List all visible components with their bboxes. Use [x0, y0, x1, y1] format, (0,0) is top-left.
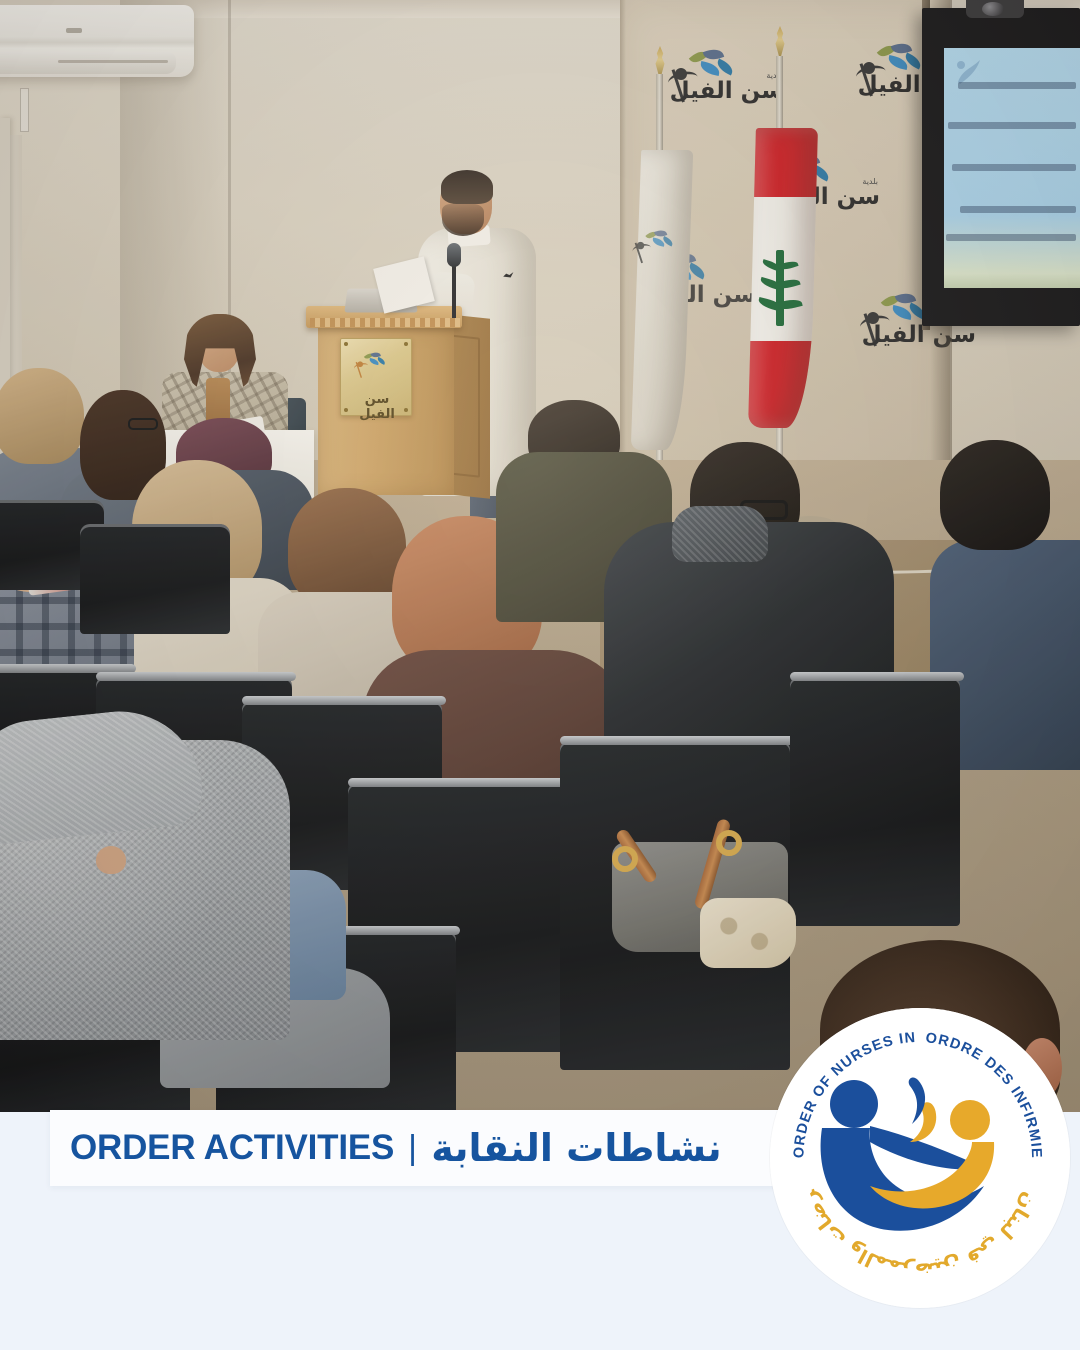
foreground-person-ear [96, 846, 126, 874]
conference-chair [80, 524, 230, 634]
door-latch [20, 88, 29, 132]
backdrop-left-edge [620, 0, 626, 500]
secondary-flag-emblem-icon [640, 222, 686, 342]
projection-screen [944, 48, 1080, 288]
event-photograph: بلدية سن الفيل بلدية سن الفيل بلدية سن ا… [0, 0, 1080, 1112]
microphone-icon [447, 243, 461, 267]
logo-blue-head [830, 1080, 878, 1128]
plaque-label: سن الفيل [346, 392, 408, 422]
logo-gold-head [950, 1100, 990, 1140]
audience-hair [288, 488, 406, 608]
cedar-emblem-icon [760, 250, 800, 328]
microphone-stand [452, 258, 456, 318]
speaker-hair [441, 170, 493, 204]
speaker-beard [442, 204, 484, 236]
plaque-emblem-icon [352, 350, 402, 392]
screenshot-root: بلدية سن الفيل بلدية سن الفيل بلدية سن ا… [0, 0, 1080, 1350]
municipality-label: سن الفيل [670, 78, 784, 104]
banner-separator: | [408, 1129, 417, 1168]
podium-moulding [310, 318, 460, 327]
order-of-nurses-logo: ORDER OF NURSES IN LEBANON ORDRE DES INF… [770, 1008, 1070, 1308]
projector-lens-icon [982, 2, 1004, 16]
scarf-in-bag [700, 898, 796, 968]
handbag-ring-icon [612, 846, 638, 872]
banner-english-label: ORDER ACTIVITIES [70, 1128, 394, 1168]
handbag-ring-icon [716, 830, 742, 856]
audience-hair [940, 440, 1050, 550]
air-conditioner-brand-mark [66, 28, 82, 33]
eyeglasses-icon [128, 418, 158, 430]
air-conditioner-vent [0, 52, 176, 74]
audience-hair [0, 368, 84, 464]
banner-text-group: ORDER ACTIVITIES | نشاطات النقابة [70, 1126, 722, 1170]
conference-chair [790, 676, 960, 926]
banner-arabic-label: نشاطات النقابة [431, 1126, 721, 1170]
scarf [672, 506, 768, 562]
air-conditioner-louver [58, 60, 168, 63]
municipality-logo: بلدية سن الفيل [664, 36, 782, 110]
